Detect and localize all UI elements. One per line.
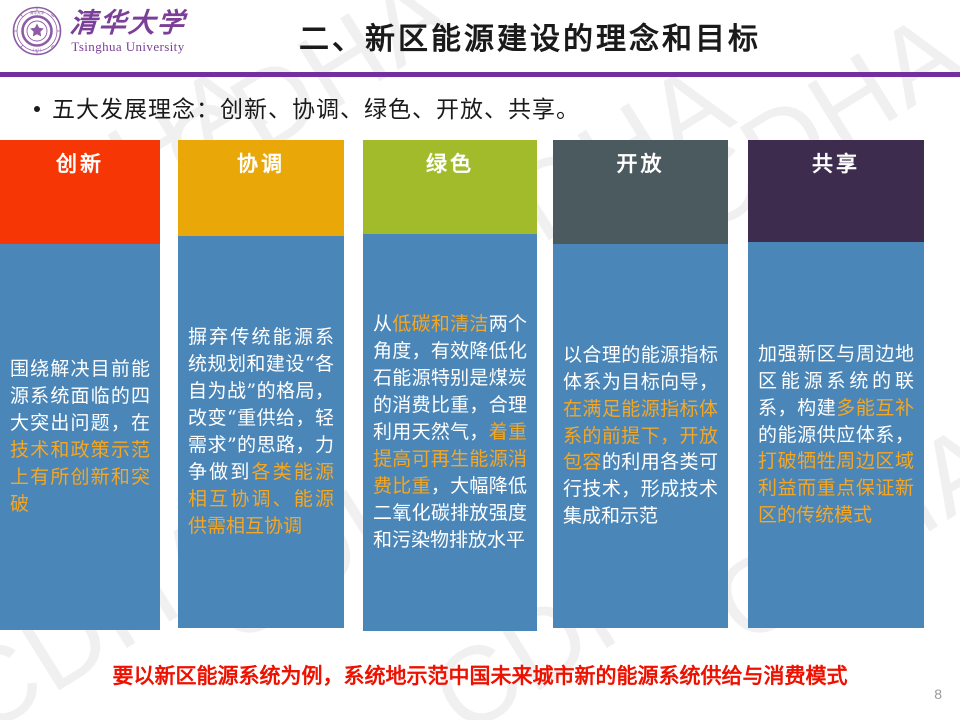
highlighted-text: 多能互补 — [836, 397, 914, 419]
body-text: 的能源供应体系， — [758, 424, 914, 446]
university-logo: 清华大学 1911 清华大学 Tsinghua University — [12, 6, 186, 56]
column-header-green[interactable]: 绿色 — [363, 140, 537, 234]
bullet-text: 五大发展理念：创新、协调、绿色、开放、共享。 — [52, 90, 580, 124]
column-text-green: 从低碳和清洁两个角度，有效降低化石能源特别是煤炭的消费比重，合理利用天然气，着重… — [373, 311, 527, 554]
footer-text: 要以新区能源系统为例，系统地示范中国未来城市新的能源系统供给与消费模式 — [113, 664, 848, 688]
body-text: 围绕解决目前能源系统面临的四大突出问题，在 — [10, 358, 150, 434]
footer-banner: 要以新区能源系统为例，系统地示范中国未来城市新的能源系统供给与消费模式 — [0, 660, 960, 690]
page-title: 二、新区能源建设的理念和目标 — [250, 14, 810, 58]
body-text: 摒弃传统能源系统规划和建设“各自为战”的格局，改变“重供给，轻需求”的思路，力争… — [188, 326, 334, 483]
column-text-coordination: 摒弃传统能源系统规划和建设“各自为战”的格局，改变“重供给，轻需求”的思路，力争… — [188, 324, 334, 540]
slide-canvas: CDHACDHACDHACDHACDHACDHACDHACDHA — [0, 0, 960, 720]
column-header-innovation[interactable]: 创新 — [0, 140, 160, 244]
page-number: 8 — [934, 686, 942, 702]
column-header-openness[interactable]: 开放 — [553, 140, 728, 244]
logo-english-name: Tsinghua University — [71, 40, 184, 53]
concept-columns: 创新围绕解决目前能源系统面临的四大突出问题，在技术和政策示范上有所创新和突破协调… — [0, 140, 960, 640]
concept-column-sharing: 共享加强新区与周边地区能源系统的联系，构建多能互补的能源供应体系，打破牺牲周边区… — [748, 140, 924, 628]
logo-chinese-name: 清华大学 — [69, 10, 187, 37]
highlighted-text: 低碳和清洁 — [392, 313, 488, 335]
column-text-innovation: 围绕解决目前能源系统面临的四大突出问题，在技术和政策示范上有所创新和突破 — [10, 356, 150, 518]
concept-column-openness: 开放以合理的能源指标体系为目标向导，在满足能源指标体系的前提下，开放包容的利用各… — [553, 140, 728, 628]
column-header-coordination[interactable]: 协调 — [178, 140, 344, 236]
body-text: 从 — [373, 313, 392, 335]
column-header-sharing[interactable]: 共享 — [748, 140, 924, 242]
column-body-openness: 以合理的能源指标体系为目标向导，在满足能源指标体系的前提下，开放包容的利用各类可… — [553, 244, 728, 628]
concept-column-innovation: 创新围绕解决目前能源系统面临的四大突出问题，在技术和政策示范上有所创新和突破 — [0, 140, 160, 630]
column-body-innovation: 围绕解决目前能源系统面临的四大突出问题，在技术和政策示范上有所创新和突破 — [0, 244, 160, 630]
column-body-green: 从低碳和清洁两个角度，有效降低化石能源特别是煤炭的消费比重，合理利用天然气，着重… — [363, 234, 537, 631]
bullet-marker-icon — [34, 106, 40, 112]
tsinghua-seal-icon: 清华大学 1911 — [12, 6, 62, 56]
concept-column-coordination: 协调摒弃传统能源系统规划和建设“各自为战”的格局，改变“重供给，轻需求”的思路，… — [178, 140, 344, 628]
svg-text:1911: 1911 — [32, 48, 41, 52]
column-body-coordination: 摒弃传统能源系统规划和建设“各自为战”的格局，改变“重供给，轻需求”的思路，力争… — [178, 236, 344, 628]
column-body-sharing: 加强新区与周边地区能源系统的联系，构建多能互补的能源供应体系，打破牺牲周边区域利… — [748, 242, 924, 628]
highlighted-text: 打破牺牲周边区域利益而重点保证新区的传统模式 — [758, 450, 914, 526]
column-text-openness: 以合理的能源指标体系为目标向导，在满足能源指标体系的前提下，开放包容的利用各类可… — [563, 342, 718, 531]
slide-header: 清华大学 1911 清华大学 Tsinghua University 二、新区能… — [0, 0, 960, 78]
concept-column-green: 绿色从低碳和清洁两个角度，有效降低化石能源特别是煤炭的消费比重，合理利用天然气，… — [363, 140, 537, 631]
column-text-sharing: 加强新区与周边地区能源系统的联系，构建多能互补的能源供应体系，打破牺牲周边区域利… — [758, 341, 914, 530]
svg-text:清华大学: 清华大学 — [30, 10, 45, 15]
body-text: 以合理的能源指标体系为目标向导， — [563, 344, 718, 393]
bullet-line: 五大发展理念：创新、协调、绿色、开放、共享。 — [34, 90, 580, 124]
highlighted-text: 技术和政策示范上有所创新和突破 — [10, 439, 150, 515]
header-divider — [0, 72, 960, 77]
